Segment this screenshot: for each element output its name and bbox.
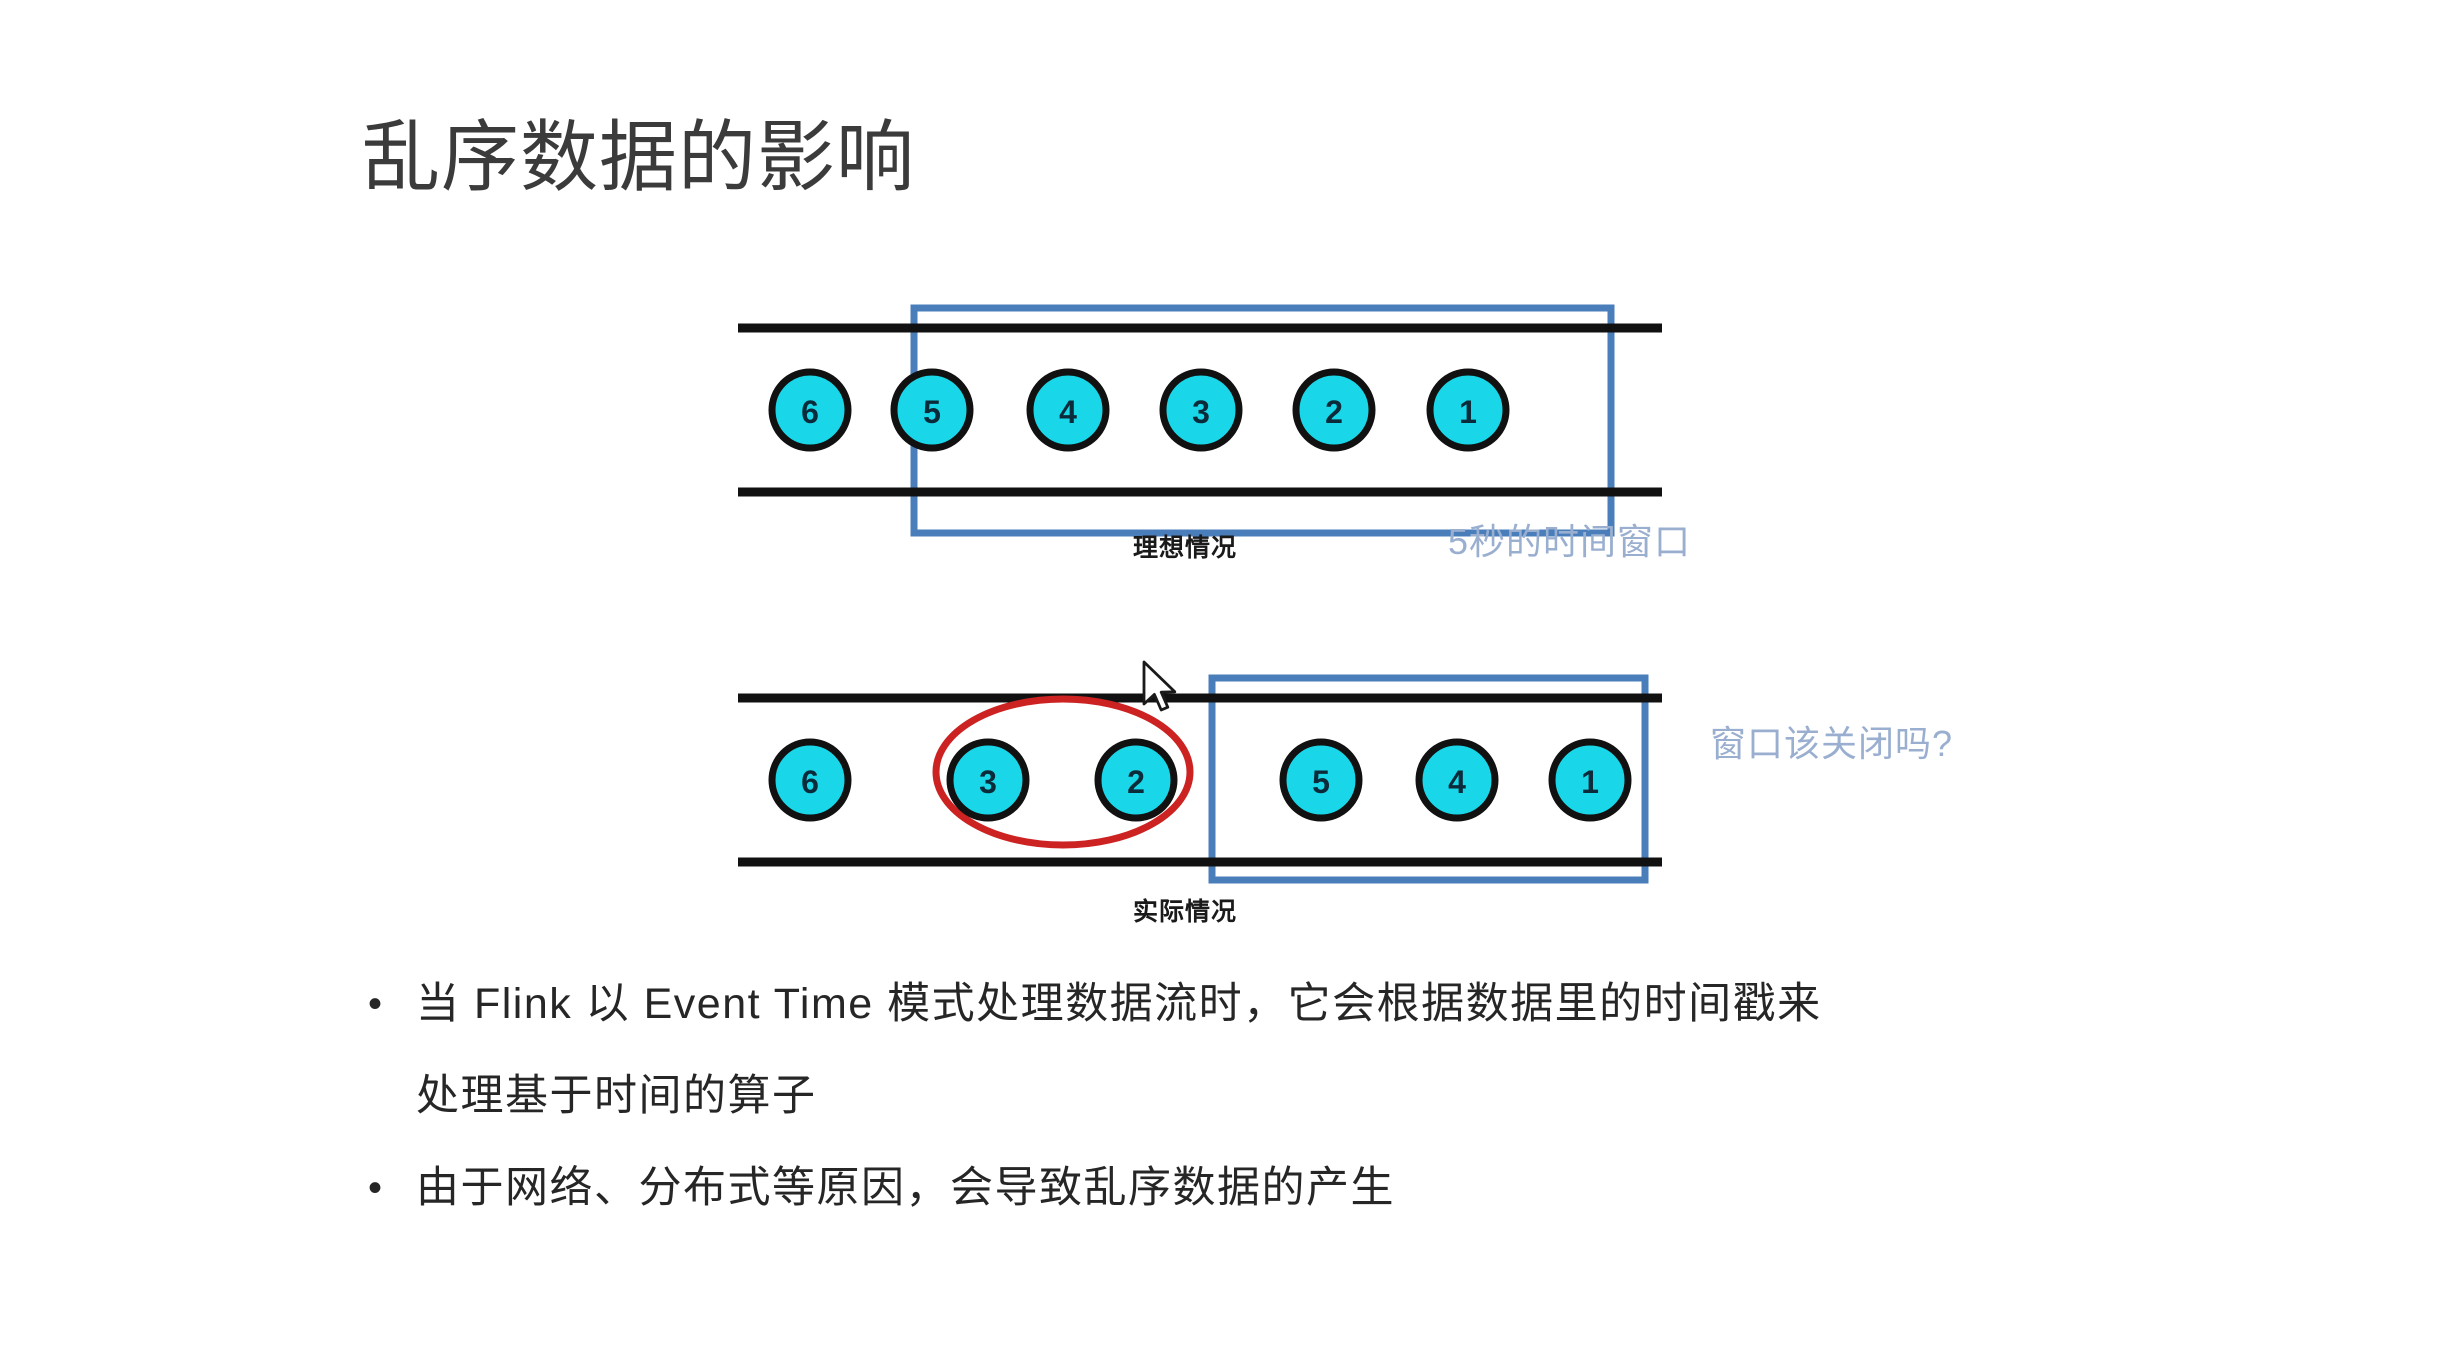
event-circle-3: 3 <box>1163 372 1239 448</box>
list-item: 处理基于时间的算子 <box>360 1057 2260 1135</box>
bullet-list: • 当 Flink 以 Event Time 模式处理数据流时，它会根据数据里的… <box>360 965 2260 1241</box>
event-circle-4: 4 <box>1030 372 1106 448</box>
event-circle-5: 5 <box>1283 742 1359 818</box>
bullet-marker: • <box>360 965 416 1043</box>
event-circle-1: 1 <box>1430 372 1506 448</box>
annotation-time-window: 5秒的时间窗口 <box>1448 513 1691 565</box>
svg-text:3: 3 <box>1192 394 1210 430</box>
caption-actual-case: 实际情况 <box>1133 892 1237 928</box>
svg-text:6: 6 <box>801 764 819 800</box>
event-circle-5: 5 <box>894 372 970 448</box>
svg-text:6: 6 <box>801 394 819 430</box>
svg-text:1: 1 <box>1459 394 1477 430</box>
bullet-marker: • <box>360 1149 416 1227</box>
event-circle-4: 4 <box>1419 742 1495 818</box>
list-item: • 当 Flink 以 Event Time 模式处理数据流时，它会根据数据里的… <box>360 965 2260 1043</box>
annotation-window-close-question: 窗口该关闭吗? <box>1710 715 1953 767</box>
event-circle-2: 2 <box>1098 742 1174 818</box>
bullet-text: 由于网络、分布式等原因，会导致乱序数据的产生 <box>416 1149 2260 1227</box>
svg-text:1: 1 <box>1581 764 1599 800</box>
slide-canvas: 乱序数据的影响 6 5 4 3 <box>0 0 2437 1349</box>
list-item: • 由于网络、分布式等原因，会导致乱序数据的产生 <box>360 1149 2260 1227</box>
event-circle-1: 1 <box>1552 742 1628 818</box>
svg-text:4: 4 <box>1448 764 1466 800</box>
event-circle-6: 6 <box>772 742 848 818</box>
bullet-text: 处理基于时间的算子 <box>416 1057 2260 1135</box>
event-circle-2: 2 <box>1296 372 1372 448</box>
svg-text:3: 3 <box>979 764 997 800</box>
svg-text:2: 2 <box>1325 394 1343 430</box>
svg-text:2: 2 <box>1127 764 1145 800</box>
page-title: 乱序数据的影响 <box>362 118 915 196</box>
bullet-text: 当 Flink 以 Event Time 模式处理数据流时，它会根据数据里的时间… <box>416 965 2260 1043</box>
event-circle-3: 3 <box>950 742 1026 818</box>
svg-text:5: 5 <box>1312 764 1330 800</box>
svg-text:5: 5 <box>923 394 941 430</box>
caption-ideal-case: 理想情况 <box>1133 528 1237 564</box>
svg-text:4: 4 <box>1059 394 1077 430</box>
event-circle-6: 6 <box>772 372 848 448</box>
